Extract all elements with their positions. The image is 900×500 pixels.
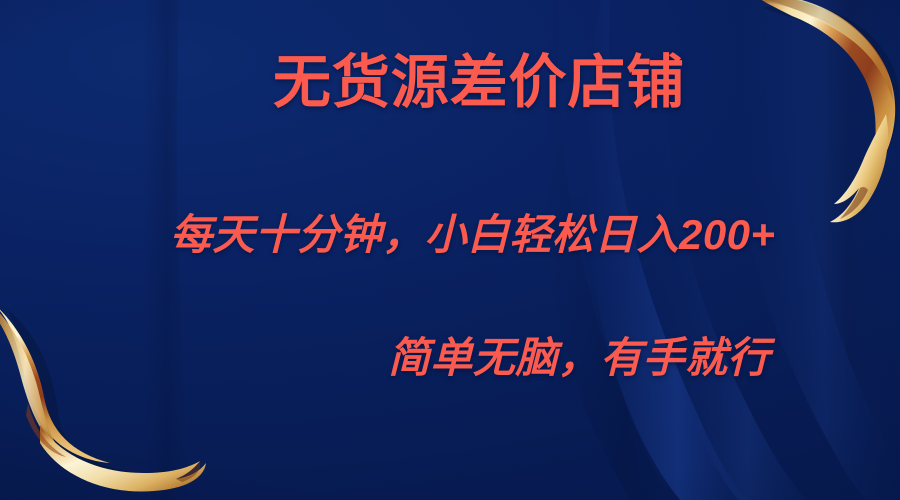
page-title: 无货源差价店铺 bbox=[273, 54, 685, 112]
subtitle-line-2: 简单无脑，有手就行 bbox=[388, 337, 770, 379]
text-layer: 无货源差价店铺 每天十分钟，小白轻松日入200+ 简单无脑，有手就行 bbox=[0, 0, 900, 500]
subtitle-line-1: 每天十分钟，小白轻松日入200+ bbox=[170, 214, 775, 256]
promo-poster: 无货源差价店铺 每天十分钟，小白轻松日入200+ 简单无脑，有手就行 bbox=[0, 0, 900, 500]
